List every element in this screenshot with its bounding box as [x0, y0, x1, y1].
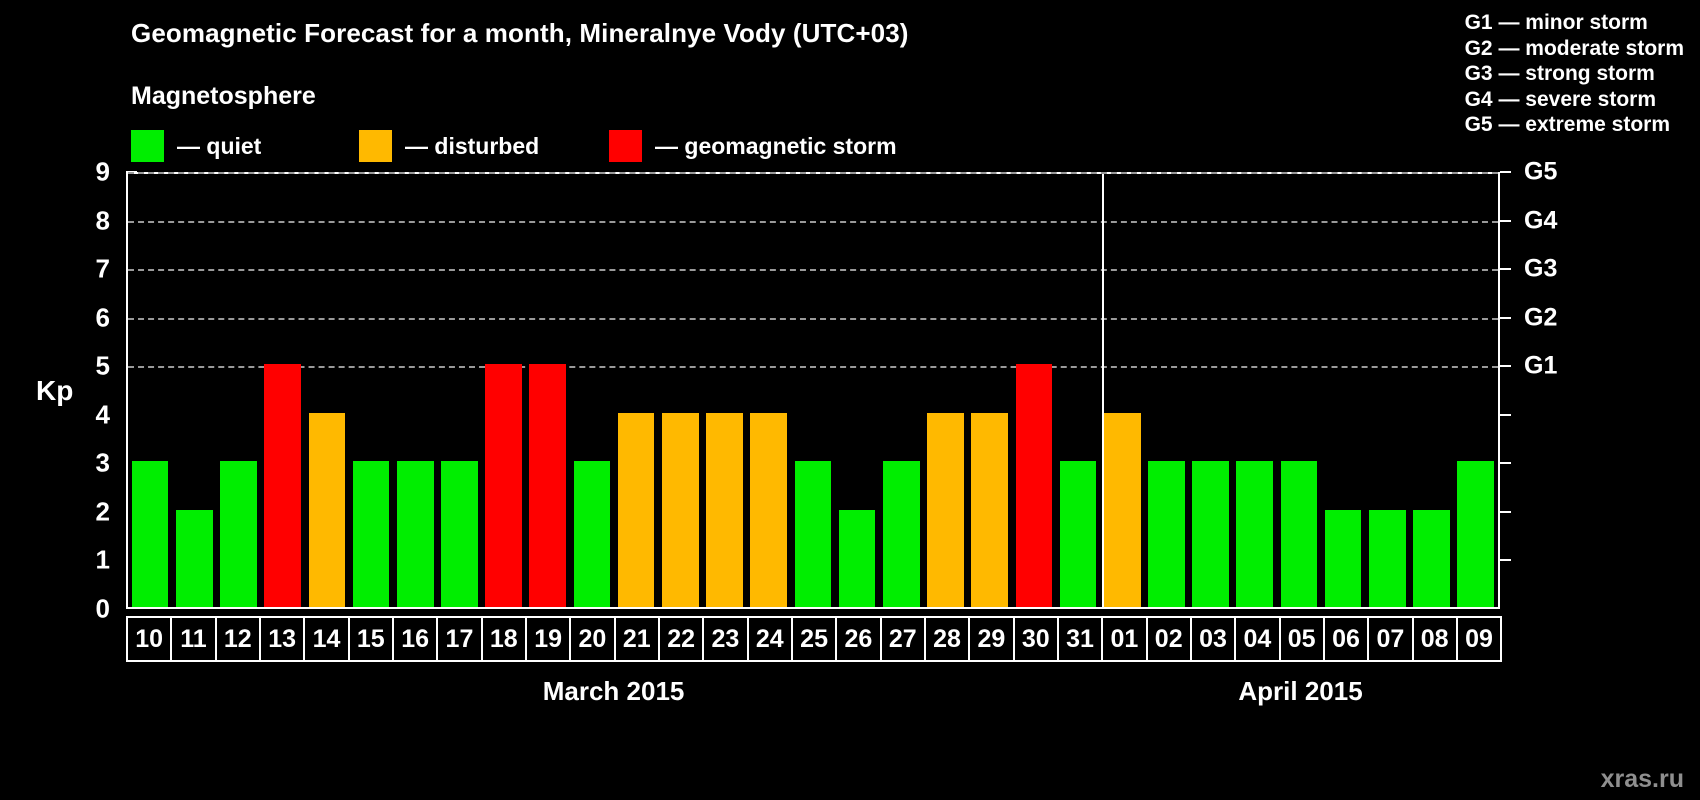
bar-16 — [397, 461, 434, 607]
month-label-march: March 2015 — [126, 676, 1101, 707]
legend-swatch-icon — [131, 130, 164, 162]
bar-27 — [883, 461, 920, 607]
bar-cell — [128, 174, 172, 607]
bar-02 — [1148, 461, 1185, 607]
bar-13 — [264, 364, 301, 607]
bar-cell — [216, 174, 260, 607]
bar-cell — [1454, 174, 1498, 607]
storm-scale-row-g4: G4 — severe storm — [1465, 87, 1684, 113]
g-tick-label-g2: G2 — [1524, 303, 1557, 332]
bar-cell — [261, 174, 305, 607]
date-label-09: 09 — [1456, 616, 1502, 662]
bar-cell — [1100, 174, 1144, 607]
bar-07 — [1369, 510, 1406, 607]
bar-cell — [482, 174, 526, 607]
g-tick-g2 — [1500, 317, 1511, 319]
bar-cell — [1233, 174, 1277, 607]
bar-cell — [1144, 174, 1188, 607]
bar-cell — [835, 174, 879, 607]
bar-18 — [485, 364, 522, 607]
bar-06 — [1325, 510, 1362, 607]
right-minor-tick-3 — [1500, 462, 1511, 464]
bar-14 — [309, 413, 346, 607]
legend-swatch-icon — [609, 130, 642, 162]
date-label-05: 05 — [1279, 616, 1325, 662]
bar-cell — [1321, 174, 1365, 607]
bar-cell — [172, 174, 216, 607]
date-label-13: 13 — [259, 616, 305, 662]
bar-23 — [706, 413, 743, 607]
bar-cell — [747, 174, 791, 607]
y-tick-label-7: 7 — [70, 254, 110, 285]
bar-cell — [1277, 174, 1321, 607]
y-tick-label-2: 2 — [70, 496, 110, 527]
bar-08 — [1413, 510, 1450, 607]
date-label-22: 22 — [658, 616, 704, 662]
bar-cell — [1189, 174, 1233, 607]
date-label-17: 17 — [436, 616, 482, 662]
bar-17 — [441, 461, 478, 607]
legend-item-label: — disturbed — [405, 133, 539, 160]
bar-cell — [791, 174, 835, 607]
bar-cell — [1012, 174, 1056, 607]
date-label-07: 07 — [1367, 616, 1413, 662]
bar-10 — [132, 461, 169, 607]
bar-cell — [1056, 174, 1100, 607]
y-tick-label-0: 0 — [70, 594, 110, 625]
g-tick-label-g4: G4 — [1524, 206, 1557, 235]
date-label-29: 29 — [968, 616, 1014, 662]
storm-scale-legend: G1 — minor stormG2 — moderate stormG3 — … — [1465, 10, 1684, 138]
y-tick-label-9: 9 — [70, 157, 110, 188]
legend-item-label: — geomagnetic storm — [655, 133, 897, 160]
date-label-02: 02 — [1146, 616, 1192, 662]
bar-25 — [795, 461, 832, 607]
bar-cell — [614, 174, 658, 607]
bar-cell — [437, 174, 481, 607]
bar-26 — [839, 510, 876, 607]
legend-item-label: — quiet — [177, 133, 261, 160]
bar-cell — [393, 174, 437, 607]
storm-scale-row-g1: G1 — minor storm — [1465, 10, 1684, 36]
date-label-25: 25 — [791, 616, 837, 662]
date-label-28: 28 — [924, 616, 970, 662]
date-label-01: 01 — [1101, 616, 1147, 662]
bar-31 — [1060, 461, 1097, 607]
g-tick-label-g5: G5 — [1524, 158, 1557, 187]
bar-22 — [662, 413, 699, 607]
bar-15 — [353, 461, 390, 607]
g-tick-label-g3: G3 — [1524, 255, 1557, 284]
right-minor-tick-1 — [1500, 559, 1511, 561]
legend-item-geomagnetic-storm: — geomagnetic storm — [609, 130, 897, 162]
g-tick-g3 — [1500, 268, 1511, 270]
date-label-26: 26 — [835, 616, 881, 662]
bar-cell — [658, 174, 702, 607]
date-label-21: 21 — [614, 616, 660, 662]
g-tick-g4 — [1500, 220, 1511, 222]
brand-watermark: xras.ru — [1601, 765, 1684, 794]
bar-30 — [1016, 364, 1053, 607]
date-label-15: 15 — [348, 616, 394, 662]
bar-series — [128, 174, 1498, 607]
bar-cell — [923, 174, 967, 607]
right-minor-tick-2 — [1500, 511, 1511, 513]
date-label-11: 11 — [170, 616, 216, 662]
plot-area — [126, 172, 1500, 609]
right-minor-tick-4 — [1500, 414, 1511, 416]
date-label-16: 16 — [392, 616, 438, 662]
date-label-12: 12 — [215, 616, 261, 662]
date-label-20: 20 — [569, 616, 615, 662]
legend-swatch-icon — [359, 130, 392, 162]
bar-09 — [1457, 461, 1494, 607]
bar-21 — [618, 413, 655, 607]
bar-cell — [305, 174, 349, 607]
g-tick-label-g1: G1 — [1524, 352, 1557, 381]
bar-12 — [220, 461, 257, 607]
date-label-03: 03 — [1190, 616, 1236, 662]
y-tick-label-8: 8 — [70, 205, 110, 236]
date-label-18: 18 — [481, 616, 527, 662]
bar-cell — [702, 174, 746, 607]
storm-scale-row-g3: G3 — strong storm — [1465, 61, 1684, 87]
bar-03 — [1192, 461, 1229, 607]
bar-cell — [1409, 174, 1453, 607]
bar-cell — [349, 174, 393, 607]
g-tick-g1 — [1500, 365, 1511, 367]
month-label-april: April 2015 — [1101, 676, 1500, 707]
legend-item-quiet: — quiet — [131, 130, 261, 162]
storm-scale-row-g2: G2 — moderate storm — [1465, 36, 1684, 62]
g-tick-g5 — [1500, 171, 1511, 173]
bar-01 — [1104, 413, 1141, 607]
legend-item-disturbed: — disturbed — [359, 130, 539, 162]
date-label-14: 14 — [303, 616, 349, 662]
bar-24 — [750, 413, 787, 607]
bar-cell — [968, 174, 1012, 607]
y-tick-label-4: 4 — [70, 399, 110, 430]
month-divider — [1102, 174, 1104, 607]
date-label-10: 10 — [126, 616, 172, 662]
date-label-06: 06 — [1323, 616, 1369, 662]
bar-28 — [927, 413, 964, 607]
y-tick-label-5: 5 — [70, 351, 110, 382]
bar-cell — [526, 174, 570, 607]
date-label-24: 24 — [747, 616, 793, 662]
date-label-04: 04 — [1234, 616, 1280, 662]
bar-11 — [176, 510, 213, 607]
geomagnetic-forecast-chart: Geomagnetic Forecast for a month, Minera… — [0, 0, 1700, 800]
y-tick-label-3: 3 — [70, 448, 110, 479]
date-label-31: 31 — [1057, 616, 1103, 662]
date-label-23: 23 — [702, 616, 748, 662]
y-tick-label-1: 1 — [70, 545, 110, 576]
bar-19 — [529, 364, 566, 607]
bar-cell — [879, 174, 923, 607]
y-tick-label-6: 6 — [70, 302, 110, 333]
y-axis-title: Kp — [36, 375, 73, 407]
date-axis: 1011121314151617181920212223242526272829… — [126, 616, 1500, 662]
bar-04 — [1236, 461, 1273, 607]
bar-05 — [1281, 461, 1318, 607]
bar-20 — [574, 461, 611, 607]
date-label-30: 30 — [1013, 616, 1059, 662]
storm-scale-row-g5: G5 — extreme storm — [1465, 112, 1684, 138]
bar-cell — [570, 174, 614, 607]
bar-cell — [1365, 174, 1409, 607]
date-label-27: 27 — [880, 616, 926, 662]
page-title: Geomagnetic Forecast for a month, Minera… — [131, 18, 909, 49]
magnetosphere-label: Magnetosphere — [131, 82, 316, 111]
bar-29 — [971, 413, 1008, 607]
date-label-08: 08 — [1412, 616, 1458, 662]
date-label-19: 19 — [525, 616, 571, 662]
